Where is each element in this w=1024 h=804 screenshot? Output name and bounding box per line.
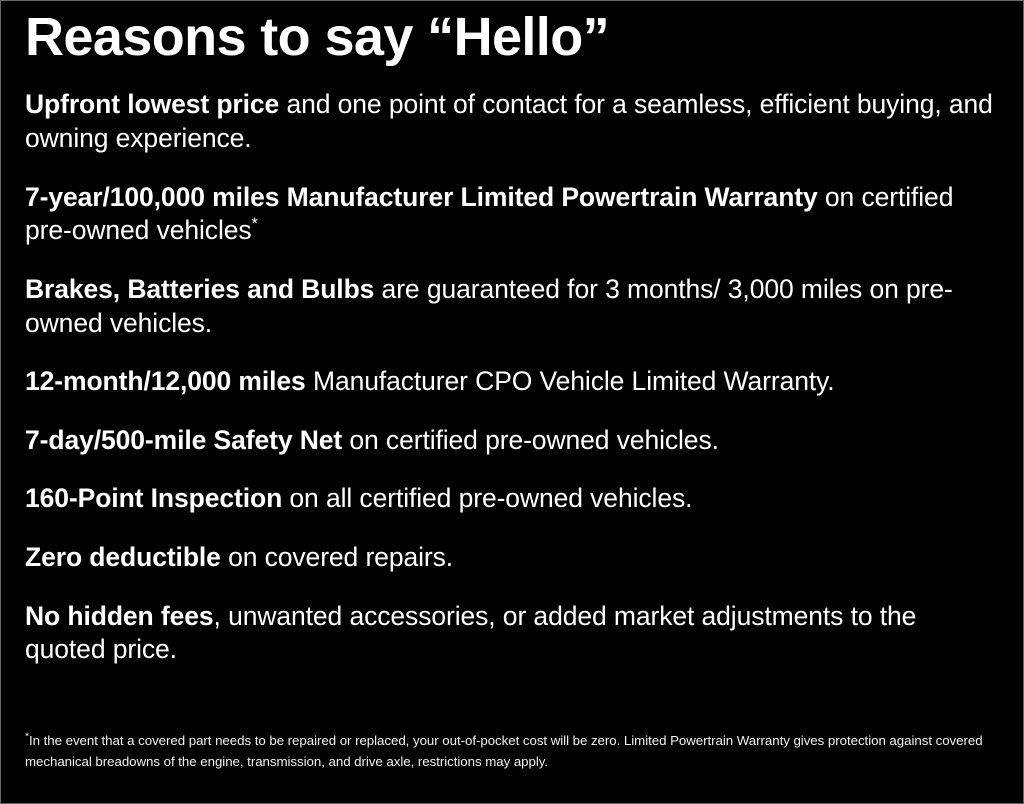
slide-canvas: Reasons to say “Hello” Upfront lowest pr… [0, 0, 1024, 804]
bullet-lead: 160-Point Inspection [25, 483, 282, 513]
bullet-lead: Zero deductible [25, 542, 221, 572]
footnote-marker-icon: * [252, 215, 258, 233]
list-item: 160-Point Inspection on all certified pr… [25, 482, 1002, 516]
bullet-lead: No hidden fees [25, 601, 214, 631]
list-item: Brakes, Batteries and Bulbs are guarante… [25, 273, 1002, 340]
bullet-lead: 7-day/500-mile Safety Net [25, 425, 342, 455]
slide-content: Reasons to say “Hello” Upfront lowest pr… [25, 8, 1002, 667]
footnote-disclaimer: *In the event that a covered part needs … [25, 731, 1002, 772]
footnote-text: In the event that a covered part needs t… [25, 733, 983, 769]
bullet-lead: Upfront lowest price [25, 89, 279, 119]
list-item: 7-day/500-mile Safety Net on certified p… [25, 424, 1002, 458]
benefits-list: Upfront lowest price and one point of co… [25, 88, 1002, 667]
bullet-lead: 12-month/12,000 miles [25, 366, 306, 396]
bullet-rest: Manufacturer CPO Vehicle Limited Warrant… [306, 366, 835, 396]
bullet-rest: on covered repairs. [221, 542, 453, 572]
bullet-lead: 7-year/100,000 miles Manufacturer Limite… [25, 182, 818, 212]
bullet-lead: Brakes, Batteries and Bulbs [25, 274, 374, 304]
bullet-rest: on all certified pre-owned vehicles. [282, 483, 692, 513]
page-title: Reasons to say “Hello” [25, 8, 1002, 66]
list-item: 7-year/100,000 miles Manufacturer Limite… [25, 181, 1002, 248]
list-item: 12-month/12,000 miles Manufacturer CPO V… [25, 365, 1002, 399]
bullet-rest: on certified pre-owned vehicles. [342, 425, 719, 455]
list-item: No hidden fees, unwanted accessories, or… [25, 600, 1002, 667]
list-item: Upfront lowest price and one point of co… [25, 88, 1002, 155]
list-item: Zero deductible on covered repairs. [25, 541, 1002, 575]
